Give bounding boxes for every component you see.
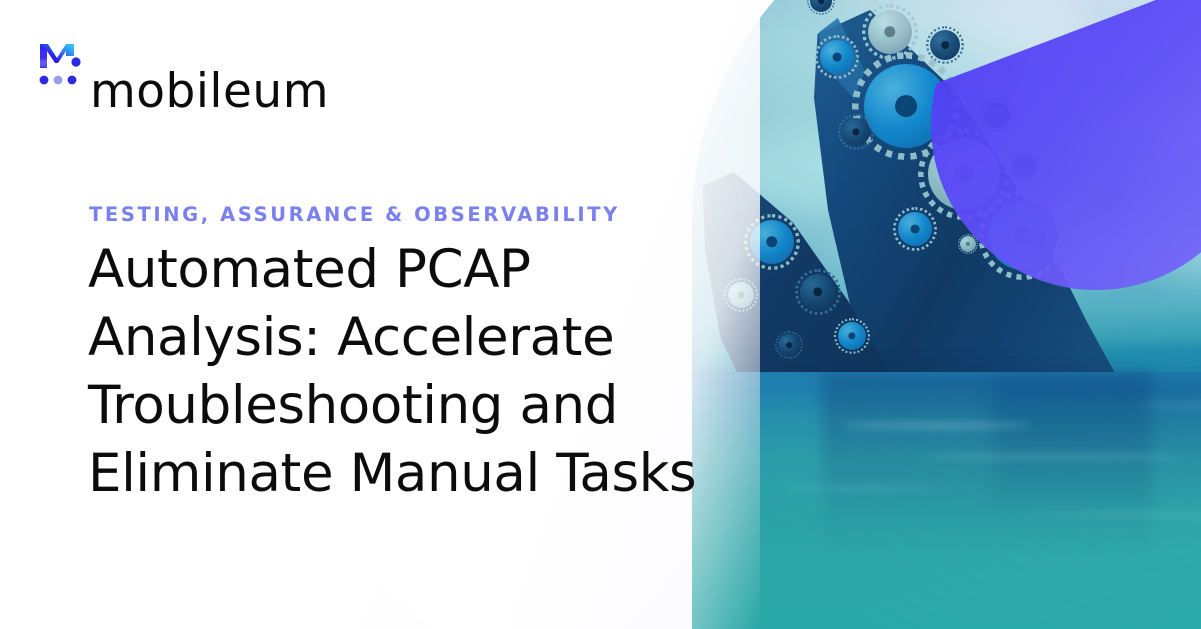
- gear-icon: [842, 118, 870, 146]
- mobileum-m-mark-icon: [38, 38, 84, 86]
- gear-icon: [928, 138, 1000, 210]
- water-highlight: [922, 454, 1182, 460]
- water-highlight: [842, 422, 1032, 429]
- gear-icon: [960, 236, 976, 252]
- gear-icon: [728, 282, 754, 308]
- hero-artwork: [692, 0, 1201, 629]
- headline-line: Troubleshooting and: [88, 372, 708, 440]
- gear-icon: [820, 40, 854, 74]
- eyebrow-label: TESTING, ASSURANCE & OBSERVABILITY: [89, 203, 620, 226]
- gear-icon: [750, 220, 794, 264]
- headline-line: Automated PCAP: [88, 236, 708, 304]
- water-highlight: [782, 486, 942, 491]
- fin-reflection: [992, 377, 1201, 517]
- gear-icon: [800, 274, 836, 310]
- gear-icon: [930, 30, 960, 60]
- gear-icon: [984, 102, 1010, 128]
- page-title: Automated PCAP Analysis: Accelerate Trou…: [88, 236, 708, 508]
- gear-icon: [778, 334, 800, 356]
- headline-line: Eliminate Manual Tasks: [88, 440, 708, 508]
- headline-line: Analysis: Accelerate: [88, 304, 708, 372]
- gear-icon: [868, 10, 912, 54]
- brand-wordmark: mobileum: [90, 68, 329, 115]
- gear-icon: [1012, 154, 1036, 178]
- gear-icon: [864, 64, 948, 148]
- gear-icon: [1028, 230, 1046, 248]
- gear-icon: [838, 322, 866, 350]
- hero-banner: mobileum TESTING, ASSURANCE & OBSERVABIL…: [0, 0, 1201, 629]
- gear-icon: [810, 0, 832, 12]
